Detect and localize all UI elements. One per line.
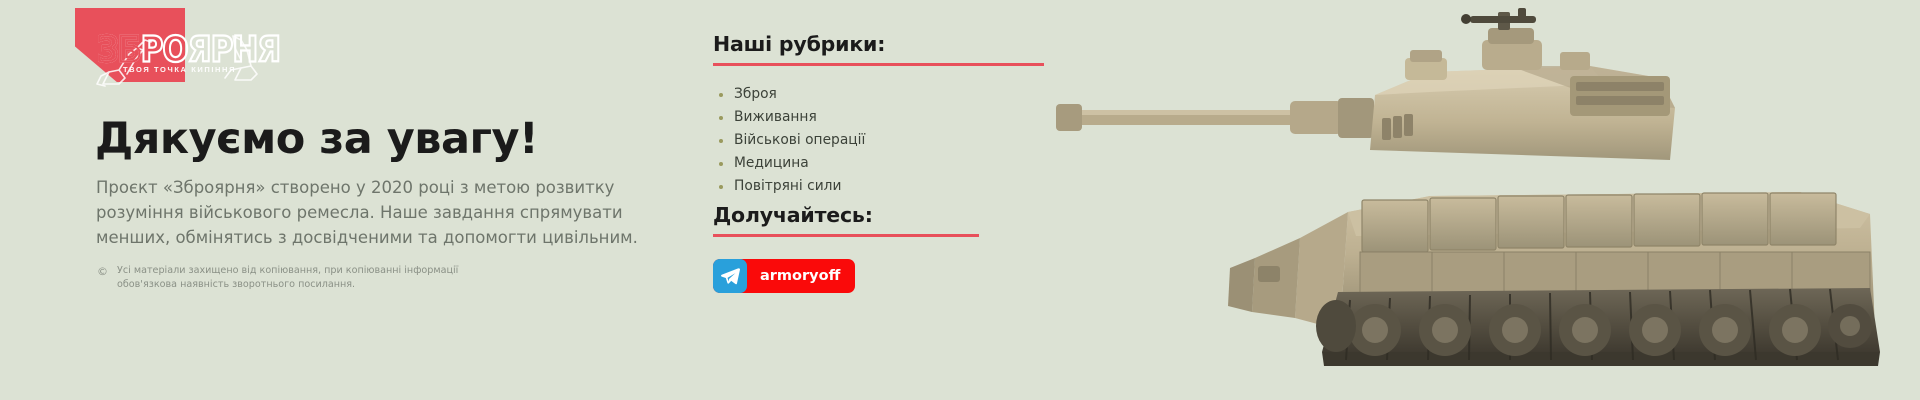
tank-photo	[870, 0, 1920, 400]
telegram-button[interactable]: armoryoff	[713, 259, 855, 293]
footer-banner: ЗБРОЯРНЯ ЗБРОЯРНЯ ТВОЯ ТОЧКА КИПІННЯ Дяк…	[0, 0, 1920, 400]
copyright-notice: © Усі матеріали захищено від копіювання,…	[97, 264, 567, 291]
bullet-icon	[719, 93, 723, 97]
bullet-icon	[719, 139, 723, 143]
site-logo[interactable]: ЗБРОЯРНЯ ЗБРОЯРНЯ ТВОЯ ТОЧКА КИПІННЯ	[75, 8, 260, 93]
copyright-text: Усі матеріали захищено від копіювання, п…	[117, 264, 458, 291]
intro-line: розуміння військового ремесла. Наше завд…	[96, 200, 616, 225]
bullet-icon	[719, 185, 723, 189]
intro-line: менших, обмінятись з досвідченими та доп…	[96, 225, 616, 250]
list-item-label: Виживання	[734, 106, 817, 129]
logo-tagline: ТВОЯ ТОЧКА КИПІННЯ	[123, 65, 236, 74]
list-item-label: Військові операції	[734, 129, 865, 152]
telegram-icon	[713, 259, 747, 293]
copyright-line: обов'язкова наявність зворотнього посила…	[117, 278, 458, 292]
intro-line: Проєкт «Зброярня» створено у 2020 році з…	[96, 175, 616, 200]
bullet-icon	[719, 116, 723, 120]
list-item-label: Повітряні сили	[734, 175, 841, 198]
list-item-label: Зброя	[734, 83, 777, 106]
list-item-label: Медицина	[734, 152, 809, 175]
intro-paragraph: Проєкт «Зброярня» створено у 2020 році з…	[96, 175, 616, 250]
copyright-icon: ©	[97, 264, 108, 278]
copyright-line: Усі матеріали захищено від копіювання, п…	[117, 264, 458, 278]
telegram-handle: armoryoff	[747, 268, 840, 284]
bullet-icon	[719, 162, 723, 166]
page-title: Дякуємо за увагу!	[95, 114, 538, 164]
